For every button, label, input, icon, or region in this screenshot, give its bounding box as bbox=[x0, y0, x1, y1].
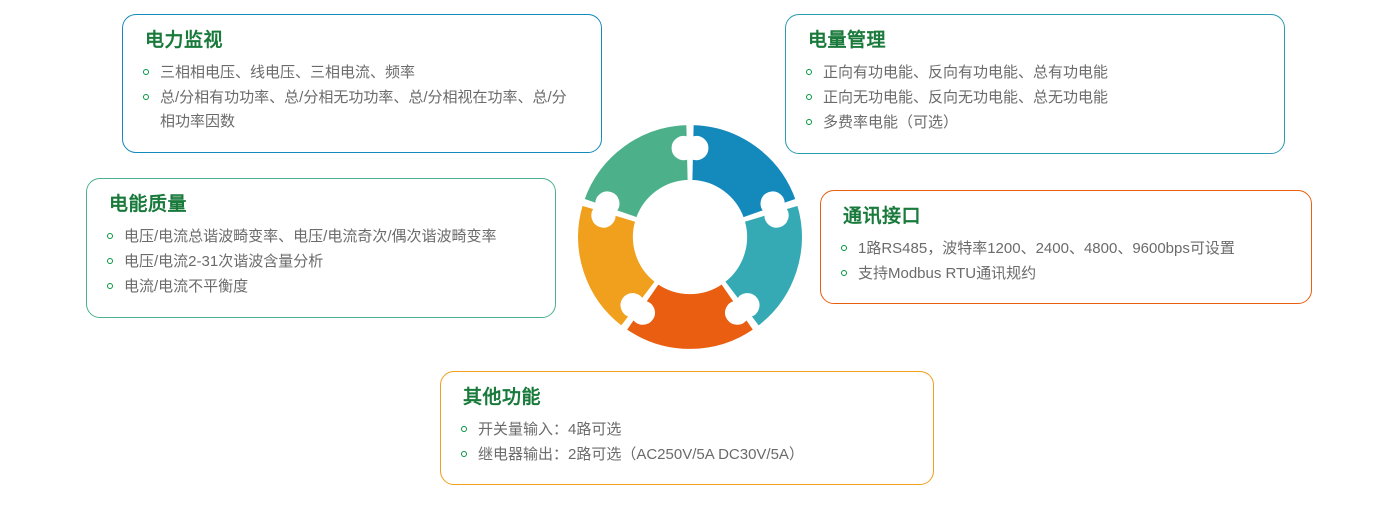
bullet-circle-icon bbox=[143, 94, 149, 100]
card-comm-interface: 通讯接口 1路RS485，波特率1200、2400、4800、9600bps可设… bbox=[820, 190, 1312, 304]
list-item-label: 支持Modbus RTU通讯规约 bbox=[858, 262, 1291, 286]
list-item-label: 三相相电压、线电压、三相电流、频率 bbox=[160, 61, 581, 85]
list-item: 电压/电流总谐波畸变率、电压/电流奇次/偶次谐波畸变率 bbox=[107, 225, 535, 249]
infographic-canvas: 电力监视 三相相电压、线电压、三相电流、频率 总/分相有功功率、总/分相无功功率… bbox=[0, 0, 1400, 507]
list-item: 正向无功电能、反向无功电能、总无功电能 bbox=[806, 86, 1264, 110]
list-item-label: 多费率电能（可选） bbox=[823, 111, 1264, 135]
bullet-list: 正向有功电能、反向有功电能、总有功电能 正向无功电能、反向无功电能、总无功电能 … bbox=[806, 61, 1264, 136]
bullet-circle-icon bbox=[806, 94, 812, 100]
list-item-label: 开关量输入：4路可选 bbox=[478, 418, 913, 442]
list-item: 1路RS485，波特率1200、2400、4800、9600bps可设置 bbox=[841, 237, 1291, 261]
bullet-circle-icon bbox=[461, 451, 467, 457]
puzzle-piece-blue bbox=[691, 124, 796, 218]
puzzle-ring-svg bbox=[571, 118, 809, 356]
puzzle-piece-teal bbox=[724, 205, 803, 327]
card-power-monitor: 电力监视 三相相电压、线电压、三相电流、频率 总/分相有功功率、总/分相无功功率… bbox=[122, 14, 602, 153]
bullet-list: 三相相电压、线电压、三相电流、频率 总/分相有功功率、总/分相无功功率、总/分相… bbox=[143, 61, 581, 135]
list-item-label: 正向有功电能、反向有功电能、总有功电能 bbox=[823, 61, 1264, 85]
list-item-label: 电流/电流不平衡度 bbox=[124, 275, 535, 299]
list-item: 三相相电压、线电压、三相电流、频率 bbox=[143, 61, 581, 85]
list-item-label: 继电器输出：2路可选（AC250V/5A DC30V/5A） bbox=[478, 443, 913, 467]
bullet-circle-icon bbox=[806, 69, 812, 75]
card-title: 通讯接口 bbox=[843, 205, 1291, 230]
list-item: 开关量输入：4路可选 bbox=[461, 418, 913, 442]
list-item-label: 1路RS485，波特率1200、2400、4800、9600bps可设置 bbox=[858, 237, 1291, 261]
card-title: 其他功能 bbox=[463, 386, 913, 411]
list-item: 支持Modbus RTU通讯规约 bbox=[841, 262, 1291, 286]
card-title: 电量管理 bbox=[808, 29, 1264, 54]
card-title: 电能质量 bbox=[109, 193, 535, 218]
list-item: 总/分相有功功率、总/分相无功功率、总/分相视在功率、总/分相功率因数 bbox=[143, 86, 581, 135]
list-item-label: 电压/电流总谐波畸变率、电压/电流奇次/偶次谐波畸变率 bbox=[124, 225, 535, 249]
bullet-circle-icon bbox=[841, 270, 847, 276]
bullet-circle-icon bbox=[841, 245, 847, 251]
bullet-circle-icon bbox=[107, 233, 113, 239]
card-other-func: 其他功能 开关量输入：4路可选 继电器输出：2路可选（AC250V/5A DC3… bbox=[440, 371, 934, 485]
card-title: 电力监视 bbox=[145, 29, 581, 54]
list-item-label: 总/分相有功功率、总/分相无功功率、总/分相视在功率、总/分相功率因数 bbox=[160, 86, 581, 135]
puzzle-ring-graphic bbox=[571, 118, 809, 356]
puzzle-piece-amber bbox=[577, 205, 656, 327]
list-item: 正向有功电能、反向有功电能、总有功电能 bbox=[806, 61, 1264, 85]
bullet-list: 1路RS485，波特率1200、2400、4800、9600bps可设置 支持M… bbox=[841, 237, 1291, 287]
list-item: 多费率电能（可选） bbox=[806, 111, 1264, 135]
list-item-label: 正向无功电能、反向无功电能、总无功电能 bbox=[823, 86, 1264, 110]
bullet-circle-icon bbox=[143, 69, 149, 75]
puzzle-piece-green bbox=[583, 124, 688, 218]
bullet-list: 开关量输入：4路可选 继电器输出：2路可选（AC250V/5A DC30V/5A… bbox=[461, 418, 913, 468]
bullet-circle-icon bbox=[107, 258, 113, 264]
card-power-quality: 电能质量 电压/电流总谐波畸变率、电压/电流奇次/偶次谐波畸变率 电压/电流2-… bbox=[86, 178, 556, 318]
bullet-list: 电压/电流总谐波畸变率、电压/电流奇次/偶次谐波畸变率 电压/电流2-31次谐波… bbox=[107, 225, 535, 300]
list-item-label: 电压/电流2-31次谐波含量分析 bbox=[124, 250, 535, 274]
bullet-circle-icon bbox=[107, 283, 113, 289]
bullet-circle-icon bbox=[461, 426, 467, 432]
list-item: 继电器输出：2路可选（AC250V/5A DC30V/5A） bbox=[461, 443, 913, 467]
list-item: 电压/电流2-31次谐波含量分析 bbox=[107, 250, 535, 274]
card-energy-manage: 电量管理 正向有功电能、反向有功电能、总有功电能 正向无功电能、反向无功电能、总… bbox=[785, 14, 1285, 154]
list-item: 电流/电流不平衡度 bbox=[107, 275, 535, 299]
